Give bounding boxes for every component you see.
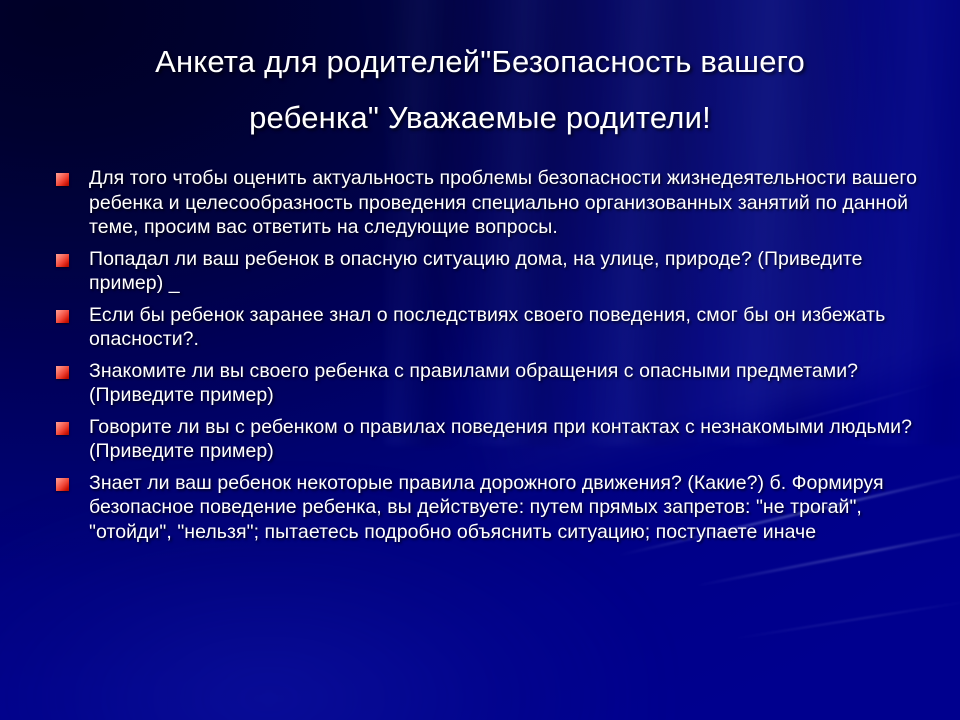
red-square-bullet-icon bbox=[56, 310, 69, 323]
red-square-bullet-icon bbox=[56, 173, 69, 186]
bullet-list: Для того чтобы оценить актуальность проб… bbox=[56, 166, 918, 551]
red-square-bullet-icon bbox=[56, 254, 69, 267]
list-item: Для того чтобы оценить актуальность проб… bbox=[56, 166, 918, 240]
list-item: Попадал ли ваш ребенок в опасную ситуаци… bbox=[56, 247, 918, 296]
list-item: Знакомите ли вы своего ребенка с правила… bbox=[56, 359, 918, 408]
list-item-text: Если бы ребенок заранее знал о последств… bbox=[89, 303, 918, 352]
list-item-text: Знакомите ли вы своего ребенка с правила… bbox=[89, 359, 918, 408]
red-square-bullet-icon bbox=[56, 422, 69, 435]
list-item-text: Попадал ли ваш ребенок в опасную ситуаци… bbox=[89, 247, 918, 296]
list-item-text: Знает ли ваш ребенок некоторые правила д… bbox=[89, 471, 918, 545]
slide-title-line-2: ребенка" Уважаемые родители! bbox=[62, 90, 898, 146]
presentation-slide: Анкета для родителей"Безопасность вашего… bbox=[0, 0, 960, 720]
red-square-bullet-icon bbox=[56, 366, 69, 379]
slide-title-line-1: Анкета для родителей"Безопасность вашего bbox=[62, 34, 898, 90]
list-item: Говорите ли вы с ребенком о правилах пов… bbox=[56, 415, 918, 464]
slide-title: Анкета для родителей"Безопасность вашего… bbox=[62, 34, 898, 146]
background-light-ribbon bbox=[731, 600, 960, 640]
list-item-text: Для того чтобы оценить актуальность проб… bbox=[89, 166, 918, 240]
list-item-text: Говорите ли вы с ребенком о правилах пов… bbox=[89, 415, 918, 464]
red-square-bullet-icon bbox=[56, 478, 69, 491]
list-item: Если бы ребенок заранее знал о последств… bbox=[56, 303, 918, 352]
list-item: Знает ли ваш ребенок некоторые правила д… bbox=[56, 471, 918, 545]
